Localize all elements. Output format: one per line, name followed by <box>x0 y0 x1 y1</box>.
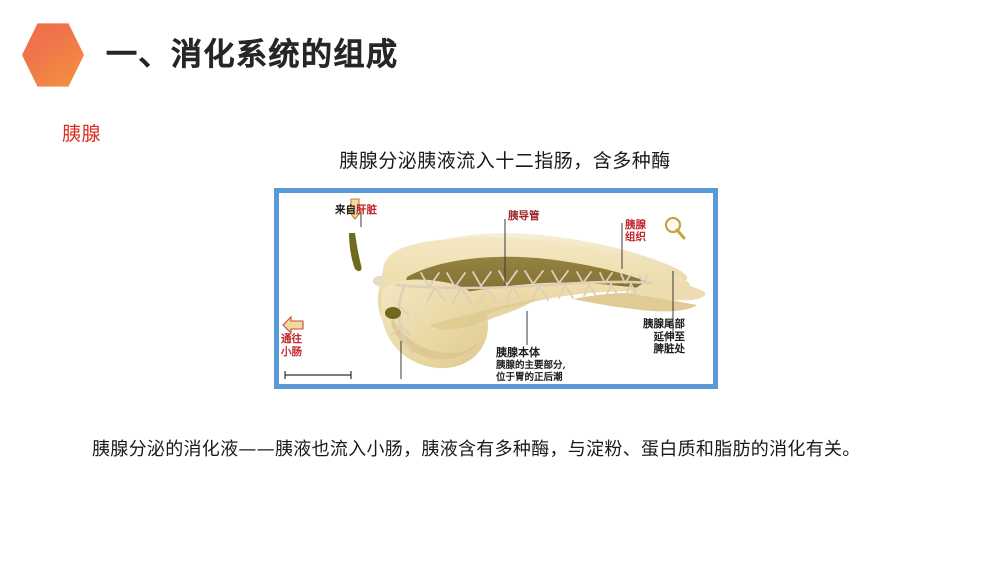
label-pancreas-tail-line1: 胰腺尾部 <box>643 318 685 331</box>
label-pancreas-body-desc2: 位于胃的正后潮 <box>496 372 566 384</box>
label-pancreas-tail-line2: 延伸至 <box>643 331 685 344</box>
label-pancreatic-tissue-line1: 胰腺 <box>625 219 646 231</box>
section-subheading: 胰腺 <box>62 119 101 146</box>
label-pancreas-body-desc1: 胰腺的主要部分, <box>496 360 566 372</box>
label-pancreatic-duct: 胰导管 <box>508 211 540 223</box>
pancreas-diagram-frame: 来自肝脏 胰导管 胰腺 组织 胰腺尾部 延伸至 脾脏处 胰腺本体 胰腺的主要部分… <box>274 188 718 389</box>
label-pancreatic-tissue-line2: 组织 <box>625 231 646 243</box>
label-pancreas-body-title: 胰腺本体 <box>496 346 566 360</box>
hexagon-bullet-icon <box>22 22 84 88</box>
duct-knob <box>373 276 385 286</box>
label-from-liver-organ: 肝脏 <box>356 204 377 216</box>
page-title: 一、消化系统的组成 <box>106 40 399 71</box>
pancreas-diagram: 来自肝脏 胰导管 胰腺 组织 胰腺尾部 延伸至 脾脏处 胰腺本体 胰腺的主要部分… <box>279 193 713 384</box>
label-to-small-intestine: 通往 小肠 <box>281 333 302 359</box>
label-pancreas-tail: 胰腺尾部 延伸至 脾脏处 <box>643 318 685 356</box>
slide-header: 一、消化系统的组成 <box>22 22 399 88</box>
duct-outlet <box>385 307 401 319</box>
label-pancreas-tail-line3: 脾脏处 <box>643 343 685 356</box>
figure-caption-text: 胰腺分泌胰液流入十二指肠，含多种酶 <box>329 150 671 172</box>
label-to-small-intestine-line2: 小肠 <box>281 346 302 359</box>
figure-caption: 胰腺分泌胰液流入十二指肠，含多种酶 <box>0 146 1000 173</box>
body-paragraph-text: 胰腺分泌的消化液——胰液也流入小肠，胰液含有多种酶，与淀粉、蛋白质和脂肪的消化有… <box>92 439 861 460</box>
label-to-small-intestine-line1: 通往 <box>281 333 302 346</box>
slide-canvas: 一、消化系统的组成 胰腺 胰腺分泌胰液流入十二指肠，含多种酶 <box>0 0 1000 563</box>
label-pancreas-body: 胰腺本体 胰腺的主要部分, 位于胃的正后潮 <box>496 346 566 384</box>
label-from-liver: 来自肝脏 <box>335 205 377 217</box>
body-paragraph: 胰腺分泌的消化液——胰液也流入小肠，胰液含有多种酶，与淀粉、蛋白质和脂肪的消化有… <box>62 432 940 469</box>
label-pancreatic-tissue: 胰腺 组织 <box>625 219 646 243</box>
label-from-liver-prefix: 来自 <box>335 204 356 216</box>
